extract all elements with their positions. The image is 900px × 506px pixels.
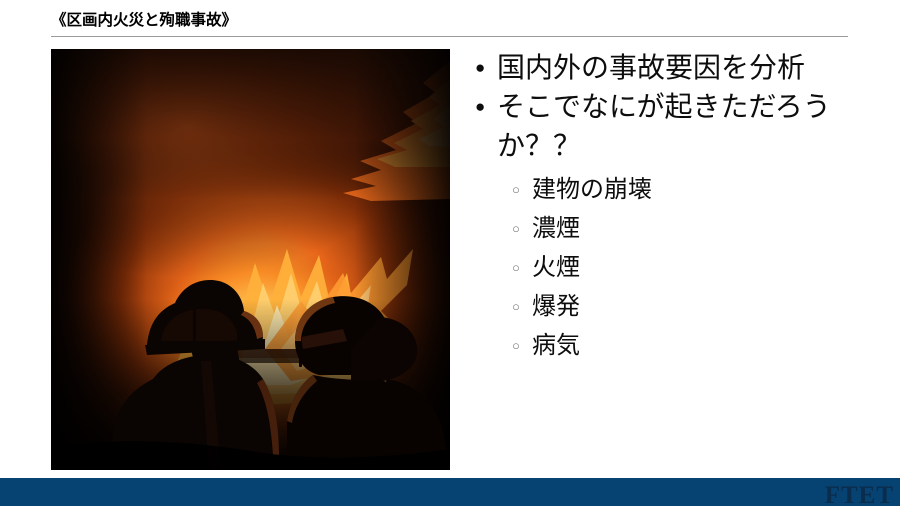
bullet-marker-hollow: ○ bbox=[512, 170, 520, 209]
bullet-item: ● 国内外の事故要因を分析 bbox=[470, 48, 890, 87]
bullet-marker-hollow: ○ bbox=[512, 287, 520, 326]
sub-bullet-text: 建物の崩壊 bbox=[532, 176, 652, 203]
title-divider bbox=[51, 36, 848, 37]
bullet-marker-filled: ● bbox=[475, 87, 485, 126]
sub-bullet-text: 爆発 bbox=[532, 293, 580, 320]
footer-logo: FTET bbox=[825, 483, 894, 506]
bullet-text: そこでなにが起きただろうか？？ bbox=[497, 87, 890, 165]
sub-bullet-text: 濃煙 bbox=[532, 215, 580, 242]
sub-bullet-item: ○ 濃煙 bbox=[470, 209, 890, 248]
bullet-text: 国内外の事故要因を分析 bbox=[497, 48, 890, 87]
sub-bullet-item: ○ 建物の崩壊 bbox=[470, 170, 890, 209]
firefighters-structure-fire-photo bbox=[51, 49, 450, 470]
sub-bullet-text: 火煙 bbox=[532, 254, 580, 281]
sub-bullet-item: ○ 爆発 bbox=[470, 287, 890, 326]
bullet-marker-filled: ● bbox=[475, 48, 485, 87]
slide-canvas: 《区画内火災と殉職事故》 bbox=[0, 0, 900, 506]
footer-bar bbox=[0, 478, 900, 506]
bullet-item: ● そこでなにが起きただろうか？？ bbox=[470, 87, 890, 165]
sub-bullet-text: 病気 bbox=[532, 332, 580, 359]
sub-bullet-item: ○ 病気 bbox=[470, 326, 890, 365]
page-title: 《区画内火災と殉職事故》 bbox=[51, 11, 237, 31]
sub-bullet-item: ○ 火煙 bbox=[470, 248, 890, 287]
bullet-marker-hollow: ○ bbox=[512, 209, 520, 248]
bullet-list: ● 国内外の事故要因を分析 ● そこでなにが起きただろうか？？ ○ 建物の崩壊 … bbox=[470, 48, 890, 365]
fire-scene-illustration bbox=[51, 49, 450, 470]
bullet-marker-hollow: ○ bbox=[512, 326, 520, 365]
bullet-marker-hollow: ○ bbox=[512, 248, 520, 287]
sub-bullet-list: ○ 建物の崩壊 ○ 濃煙 ○ 火煙 ○ 爆発 ○ 病気 bbox=[470, 170, 890, 365]
